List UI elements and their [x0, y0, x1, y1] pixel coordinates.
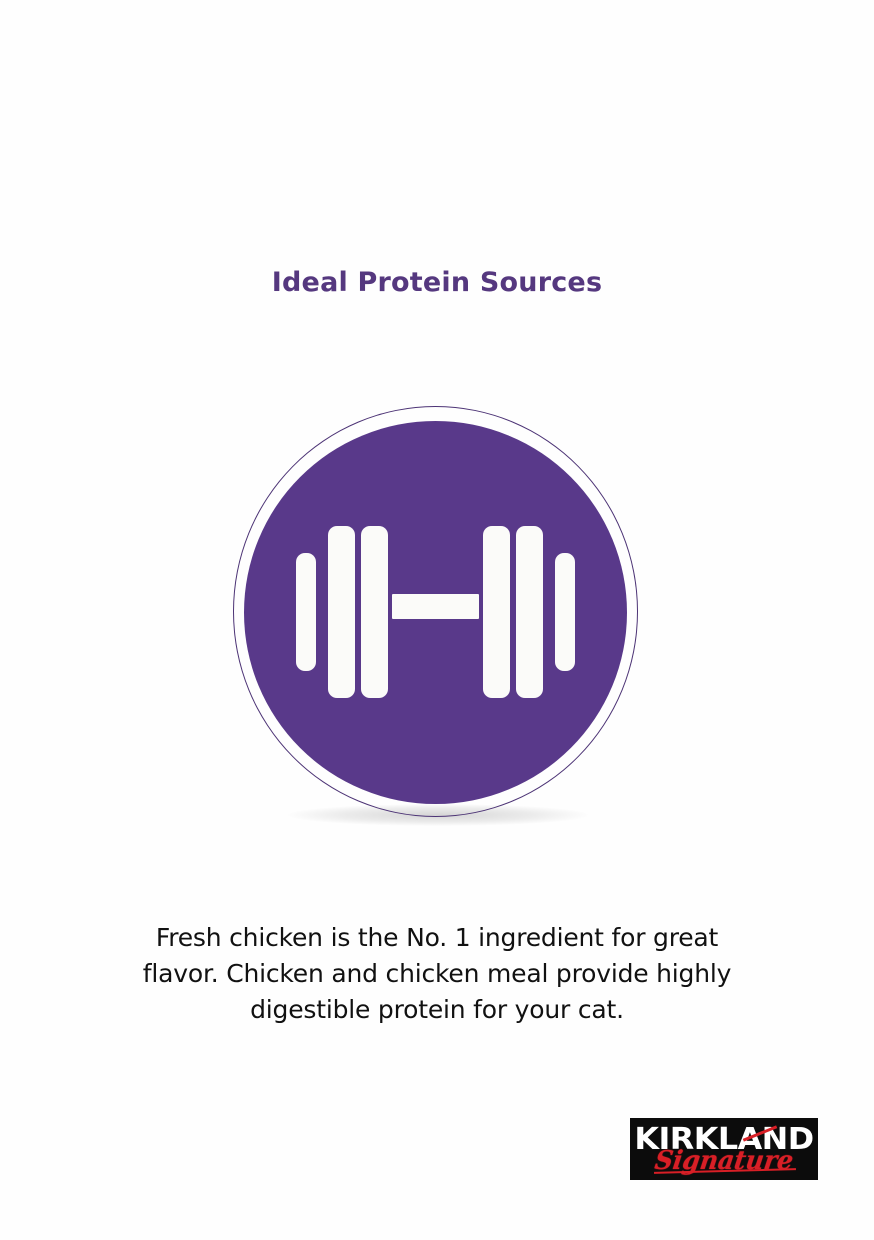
- description-line-2: flavor. Chicken and chicken meal provide…: [87, 956, 787, 992]
- dumbbell-handle: [392, 594, 479, 619]
- dumbbell-icon: [244, 421, 627, 804]
- poster-page: Ideal Protein Sources Fresh chicken is t…: [0, 0, 874, 1240]
- dumbbell-plate-outer-left: [296, 553, 316, 671]
- dumbbell-plate-outer-right: [555, 553, 575, 671]
- description-line-1: Fresh chicken is the No. 1 ingredient fo…: [87, 920, 787, 956]
- protein-badge: [233, 406, 639, 820]
- description-line-3: digestible protein for your cat.: [87, 992, 787, 1028]
- dumbbell-plate-inner-left-2: [361, 526, 388, 698]
- page-title: Ideal Protein Sources: [0, 266, 874, 300]
- dumbbell-plate-inner-right-2: [516, 526, 543, 698]
- badge-disc: [244, 421, 627, 804]
- description-text: Fresh chicken is the No. 1 ingredient fo…: [87, 920, 787, 1028]
- dumbbell-plate-inner-left-1: [328, 526, 355, 698]
- dumbbell-plate-inner-right-1: [483, 526, 510, 698]
- kirkland-signature-logo: KIRKLAND Signature: [630, 1118, 818, 1180]
